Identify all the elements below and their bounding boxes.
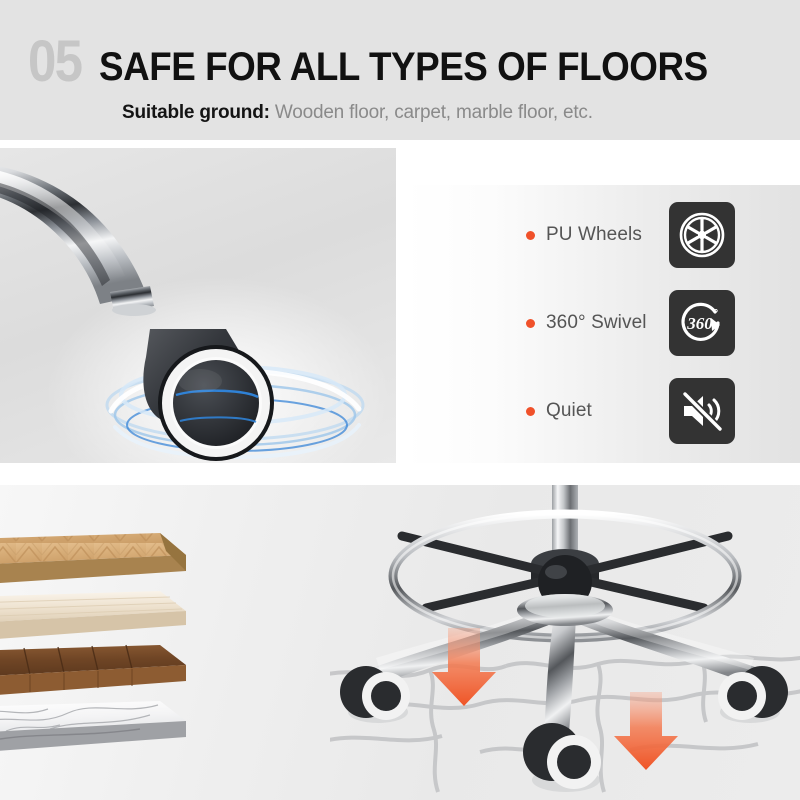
bullet-icon <box>526 407 535 416</box>
chrome-five-star-chair-base <box>330 485 800 800</box>
caster-front <box>523 723 601 792</box>
feature-row-360-swivel[interactable]: 360° Swivel 360 ° <box>404 287 800 359</box>
header-title-row: 05 SAFE FOR ALL TYPES OF FLOORS <box>28 38 760 86</box>
subtitle-value: Wooden floor, carpet, marble floor, etc. <box>275 102 593 123</box>
360-icon-degree: ° <box>714 308 718 320</box>
header-band: 05 SAFE FOR ALL TYPES OF FLOORS Suitable… <box>0 0 800 140</box>
subtitle-label: Suitable ground: <box>122 102 270 123</box>
floor-sample-light-wood <box>0 591 186 641</box>
360-icon-text: 360 <box>686 314 713 333</box>
page-title: SAFE FOR ALL TYPES OF FLOORS <box>99 49 708 86</box>
caster-wheel <box>130 323 300 463</box>
mute-speaker-icon <box>669 378 735 444</box>
features-panel: PU Wheels <box>404 185 800 463</box>
floor-sample-herringbone <box>0 533 186 585</box>
subtitle: Suitable ground: Wooden floor, carpet, m… <box>122 102 593 124</box>
bullet-icon <box>526 319 535 328</box>
feature-label: 360° Swivel <box>546 312 647 334</box>
feature-row-quiet[interactable]: Quiet <box>404 375 800 447</box>
floor-sample-stack <box>0 499 240 779</box>
floor-sample-marble <box>0 701 186 753</box>
infographic-page: 05 SAFE FOR ALL TYPES OF FLOORS Suitable… <box>0 0 800 800</box>
feature-row-pu-wheels[interactable]: PU Wheels <box>404 199 800 271</box>
section-number-badge: 05 <box>28 38 81 86</box>
bullet-icon <box>526 231 535 240</box>
floors-and-base-panel <box>0 485 800 800</box>
pressure-arrow-right <box>614 692 678 770</box>
wheel-icon <box>669 202 735 268</box>
feature-label: PU Wheels <box>546 224 642 246</box>
caster-photo-panel <box>0 148 396 463</box>
feature-label: Quiet <box>546 400 592 422</box>
360-rotation-icon: 360 ° <box>669 290 735 356</box>
floor-sample-dark-wood <box>0 645 186 697</box>
